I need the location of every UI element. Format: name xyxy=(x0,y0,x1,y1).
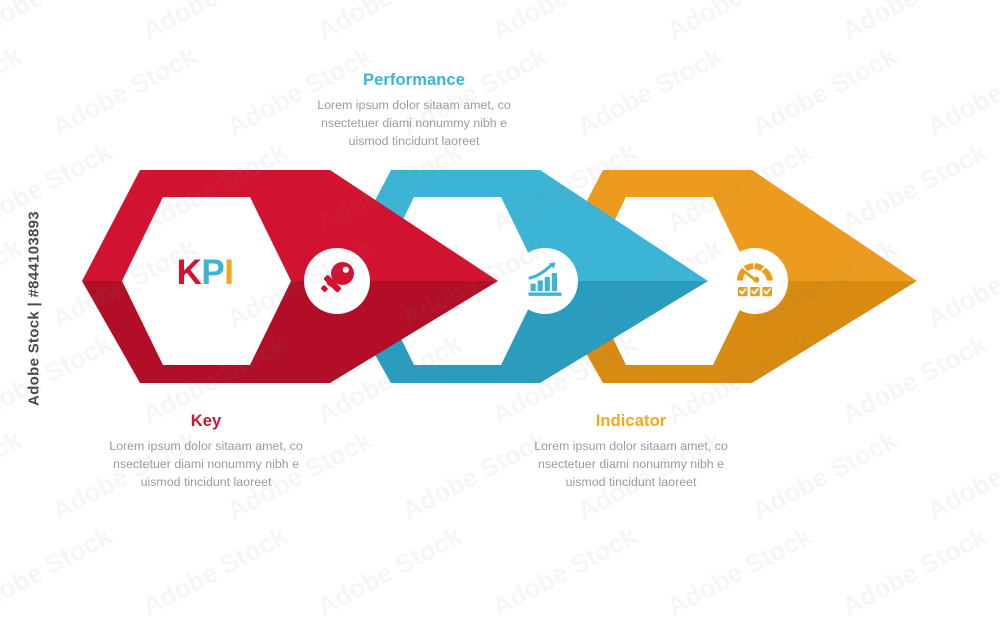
body-key-line-3: uismod tincidunt laoreet xyxy=(88,474,324,492)
body-indicator-line-2: nsectetuer diami nonummy nibh e xyxy=(508,456,754,474)
title-indicator: Indicator xyxy=(508,411,754,433)
title-performance: Performance xyxy=(296,70,532,92)
text-block-performance: Performance Lorem ipsum dolor sitaam ame… xyxy=(296,70,532,151)
icon-badge-indicator[interactable] xyxy=(722,248,788,314)
body-performance-line-1: Lorem ipsum dolor sitaam amet, co xyxy=(296,97,532,115)
kpi-letter-p: P xyxy=(201,253,224,292)
icon-badge-performance[interactable] xyxy=(512,248,578,314)
text-block-indicator: Indicator Lorem ipsum dolor sitaam amet,… xyxy=(508,411,754,492)
icon-badge-key[interactable] xyxy=(304,248,370,314)
infographic-canvas: KPI Performance Lorem ipsum dolor sitaam… xyxy=(0,0,1000,563)
kpi-letter-i: I xyxy=(224,253,233,292)
kpi-center-label: KPI xyxy=(120,255,290,290)
kpi-letter-k: K xyxy=(177,253,202,292)
body-indicator-line-1: Lorem ipsum dolor sitaam amet, co xyxy=(508,438,754,456)
title-key: Key xyxy=(88,411,324,433)
body-performance-line-2: nsectetuer diami nonummy nibh e xyxy=(296,115,532,133)
watermark-vertical-text: Adobe Stock | #844103893 xyxy=(26,179,43,439)
text-block-key: Key Lorem ipsum dolor sitaam amet, co ns… xyxy=(88,411,324,492)
body-indicator-line-3: uismod tincidunt laoreet xyxy=(508,474,754,492)
body-key-line-1: Lorem ipsum dolor sitaam amet, co xyxy=(88,438,324,456)
body-key-line-2: nsectetuer diami nonummy nibh e xyxy=(88,456,324,474)
body-performance-line-3: uismod tincidunt laoreet xyxy=(296,133,532,151)
